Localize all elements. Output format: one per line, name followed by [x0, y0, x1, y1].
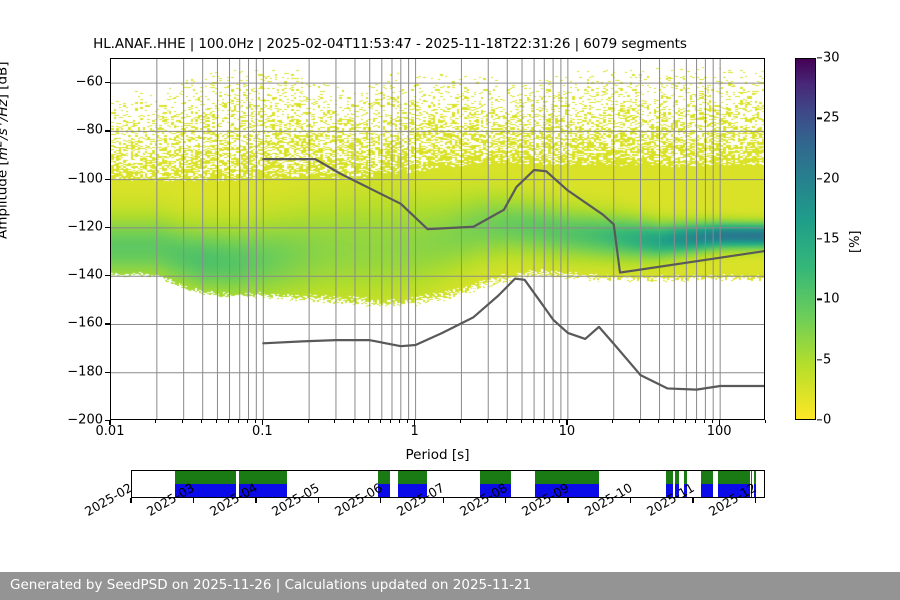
- y-axis-tick-label: −100: [67, 171, 103, 186]
- colorbar-tick-mark: [817, 118, 822, 119]
- x-axis-minor-tick-mark: [390, 420, 391, 423]
- x-axis-minor-tick-mark: [639, 420, 640, 423]
- availability-segment-upper: [754, 471, 755, 484]
- x-axis-minor-tick-mark: [216, 420, 217, 423]
- x-axis-minor-tick-mark: [658, 420, 659, 423]
- timeline-tick-mark: [505, 498, 506, 503]
- noise-model-curve: [263, 159, 764, 272]
- x-axis-minor-tick-mark: [673, 420, 674, 423]
- x-axis-minor-tick-mark: [487, 420, 488, 423]
- x-axis-minor-tick-mark: [201, 420, 202, 423]
- footer-text: Generated by SeedPSD on 2025-11-26 | Cal…: [10, 577, 531, 593]
- x-axis-tick-label: 0.1: [252, 424, 273, 439]
- y-axis-tick-mark: [105, 82, 110, 83]
- timeline-tick-mark: [692, 498, 693, 503]
- x-axis-minor-tick-mark: [704, 420, 705, 423]
- x-axis-tick-mark: [414, 420, 415, 425]
- y-axis-tick-mark: [105, 323, 110, 324]
- y-axis-tick-label: −180: [67, 364, 103, 379]
- x-axis-minor-tick-mark: [182, 420, 183, 423]
- y-axis-tick-mark: [105, 275, 110, 276]
- x-axis-minor-tick-mark: [695, 420, 696, 423]
- y-axis-tick-label: −140: [67, 268, 103, 283]
- x-axis-minor-tick-mark: [552, 420, 553, 423]
- x-axis-minor-tick-mark: [559, 420, 560, 423]
- colorbar-tick-label: 0: [823, 413, 831, 428]
- colorbar-tick-label: 10: [823, 292, 840, 307]
- availability-segment-upper: [701, 471, 713, 484]
- colorbar-tick-label: 15: [823, 232, 840, 247]
- x-axis-minor-tick-mark: [521, 420, 522, 423]
- x-axis-minor-tick-mark: [353, 420, 354, 423]
- timeline-tick-mark: [318, 498, 319, 503]
- x-axis-minor-tick-mark: [685, 420, 686, 423]
- x-axis-minor-tick-mark: [247, 420, 248, 423]
- colorbar-tick-label: 20: [823, 171, 840, 186]
- availability-segment-upper: [480, 471, 511, 484]
- x-axis-tick-label: 100: [707, 424, 732, 439]
- y-axis-tick-label: −120: [67, 219, 103, 234]
- x-axis-minor-tick-mark: [407, 420, 408, 423]
- x-axis-tick-mark: [719, 420, 720, 425]
- psd-plot-area: [111, 59, 764, 419]
- noise-model-curve: [263, 279, 764, 390]
- colorbar-tick-label: 25: [823, 111, 840, 126]
- timeline-date-label: 2025-02: [82, 480, 135, 519]
- x-axis-minor-tick-mark: [255, 420, 256, 423]
- y-axis-label: Amplitude [m2/s4/Hz] [dB]: [0, 61, 11, 239]
- timeline-tick-mark: [380, 498, 381, 503]
- x-axis-minor-tick-mark: [712, 420, 713, 423]
- psd-figure: HL.ANAF..HHE | 100.0Hz | 2025-02-04T11:5…: [0, 0, 900, 600]
- colorbar-tick-mark: [817, 178, 822, 179]
- x-axis-tick-mark: [566, 420, 567, 425]
- timeline-tick-mark: [567, 498, 568, 503]
- colorbar-tick-mark: [817, 359, 822, 360]
- colorbar-tick-mark: [817, 57, 822, 58]
- availability-segment-lower: [701, 484, 713, 497]
- availability-segment-upper: [675, 471, 678, 484]
- x-axis-minor-tick-mark: [612, 420, 613, 423]
- x-axis-minor-tick-mark: [533, 420, 534, 423]
- availability-segment-upper: [378, 471, 390, 484]
- availability-segment-upper: [398, 471, 428, 484]
- x-axis-tick-label: 1: [410, 424, 418, 439]
- psd-axes: [110, 58, 765, 420]
- timeline-tick-mark: [130, 498, 131, 503]
- colorbar-tick-label: 5: [823, 352, 831, 367]
- timeline-tick-mark: [255, 498, 256, 503]
- y-axis-tick-mark: [105, 130, 110, 131]
- x-axis-minor-tick-mark: [368, 420, 369, 423]
- colorbar-tick-mark: [817, 419, 822, 420]
- x-axis-tick-label: 10: [559, 424, 576, 439]
- x-axis-minor-tick-mark: [308, 420, 309, 423]
- y-axis-tick-mark: [105, 179, 110, 180]
- x-axis-tick-mark: [262, 420, 263, 425]
- page-title: HL.ANAF..HHE | 100.0Hz | 2025-02-04T11:5…: [0, 36, 780, 52]
- colorbar-tick-mark: [817, 238, 822, 239]
- availability-segment-upper: [535, 471, 599, 484]
- availability-segment: [701, 471, 713, 497]
- footer-bar: Generated by SeedPSD on 2025-11-26 | Cal…: [0, 572, 900, 600]
- timeline-tick-mark: [755, 498, 756, 503]
- x-axis-minor-tick-mark: [506, 420, 507, 423]
- x-axis-label: Period [s]: [110, 447, 765, 463]
- colorbar: [795, 58, 816, 420]
- timeline-tick-mark: [630, 498, 631, 503]
- y-axis-tick-label: −60: [76, 75, 103, 90]
- x-axis-minor-tick-mark: [155, 420, 156, 423]
- x-axis-minor-tick-mark: [334, 420, 335, 423]
- x-axis-tick-label: 0.01: [96, 424, 125, 439]
- y-axis-tick-mark: [105, 227, 110, 228]
- x-axis-minor-tick-mark: [765, 420, 766, 423]
- noise-model-curves: [111, 59, 764, 419]
- x-axis-minor-tick-mark: [238, 420, 239, 423]
- x-axis-minor-tick-mark: [228, 420, 229, 423]
- colorbar-tick-mark: [817, 299, 822, 300]
- x-axis-minor-tick-mark: [380, 420, 381, 423]
- colorbar-tick-label: 30: [823, 51, 840, 66]
- y-axis-tick-label: −80: [76, 123, 103, 138]
- x-axis-minor-tick-mark: [399, 420, 400, 423]
- x-axis-minor-tick-mark: [460, 420, 461, 423]
- y-axis-tick-mark: [105, 372, 110, 373]
- colorbar-label: [%]: [848, 231, 863, 254]
- timeline-tick-mark: [443, 498, 444, 503]
- timeline-tick-mark: [193, 498, 194, 503]
- y-axis-tick-label: −160: [67, 316, 103, 331]
- x-axis-tick-mark: [109, 420, 110, 425]
- availability-segment-upper: [666, 471, 673, 484]
- x-axis-minor-tick-mark: [543, 420, 544, 423]
